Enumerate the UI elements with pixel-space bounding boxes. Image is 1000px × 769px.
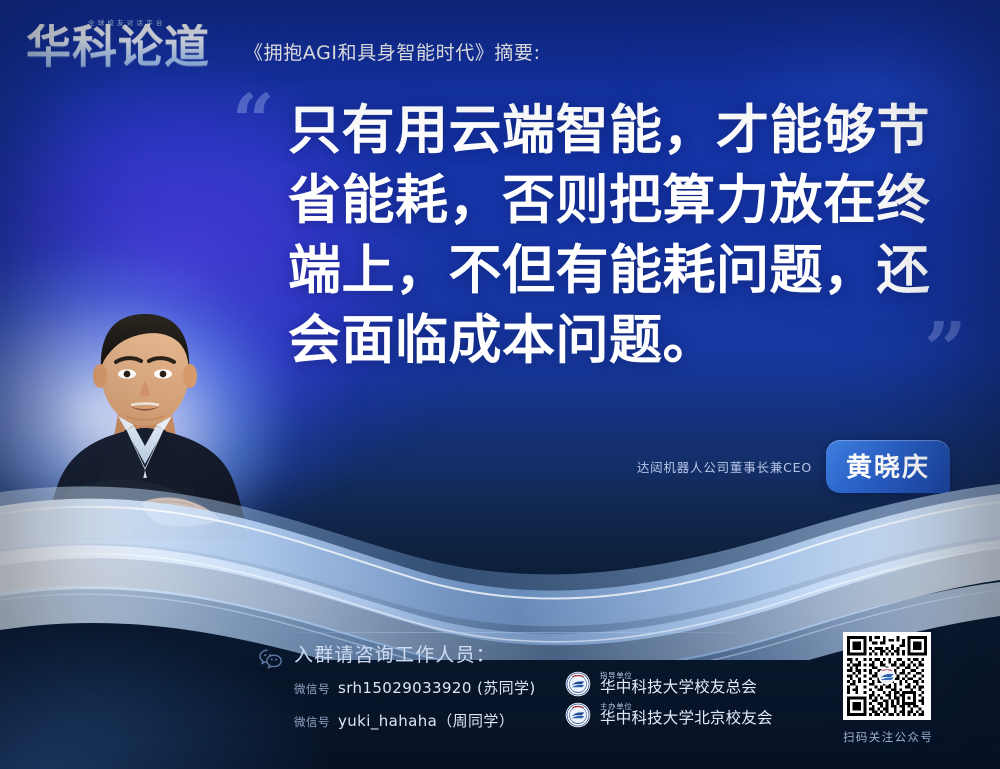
organization-list: 指导单位 华中科技大学校友总会	[565, 668, 773, 730]
qr-section: 扫码关注公众号	[843, 632, 933, 745]
wechat-icon	[258, 648, 284, 670]
university-seal-icon	[565, 671, 591, 697]
organization-name: 华中科技大学北京校友会	[600, 711, 773, 727]
footer-divider	[286, 632, 750, 633]
organization-text: 主办单位 华中科技大学北京校友会	[600, 703, 773, 727]
contact-label: 微信号	[294, 714, 330, 730]
organization-text: 指导单位 华中科技大学校友总会	[600, 672, 757, 696]
contact-label: 微信号	[294, 681, 330, 697]
poster: 全球校友对话平台 华科论道 《拥抱AGI和具身智能时代》摘要:	[0, 0, 1000, 769]
contact-value: srh15029033920 (苏同学)	[338, 677, 536, 698]
contact-value: yuki_hahaha（周同学）	[338, 710, 514, 731]
footer-heading: 入群请咨询工作人员：	[294, 640, 798, 667]
list-item: 指导单位 华中科技大学校友总会	[565, 668, 773, 699]
organization-name: 华中科技大学校友总会	[600, 680, 757, 696]
qr-code[interactable]	[843, 632, 931, 720]
list-item: 主办单位 华中科技大学北京校友会	[565, 699, 773, 730]
qr-caption: 扫码关注公众号	[843, 729, 933, 745]
university-seal-icon	[565, 702, 591, 728]
